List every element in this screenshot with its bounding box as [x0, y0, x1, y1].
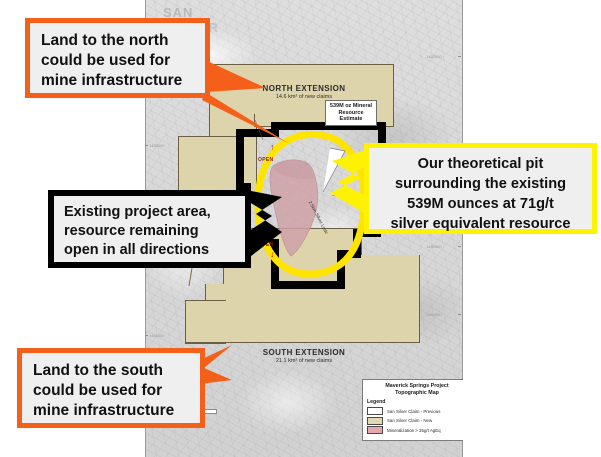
callout-pit-line1: Our theoretical pit	[373, 154, 588, 174]
legend-title-line1: Maverick Springs Project	[367, 383, 463, 390]
open-label-north: OPEN	[258, 157, 273, 163]
callout-existing-line1: Existing project area,	[64, 203, 245, 222]
slide-canvas: SAN SILVER 1462500 1462000 1461500 14610…	[0, 0, 601, 457]
callout-existing-text: Existing project area, resource remainin…	[54, 196, 245, 260]
open-arrow-east-icon: →	[330, 190, 339, 199]
callout-south-line3: mine infrastructure	[33, 401, 200, 421]
legend-item: San Silver Claim - Previous	[367, 407, 463, 415]
legend-item: Mineralization > 25g/t AgEq	[367, 426, 463, 434]
legend-swatch-claim-previous	[367, 407, 383, 415]
callout-pit-text: Our theoretical pit surrounding the exis…	[369, 148, 592, 234]
coord-tick	[458, 246, 461, 247]
open-label-south: OPEN	[258, 242, 273, 248]
claim-north-extension-notch[interactable]	[178, 136, 238, 149]
callout-north-line1: Land to the north	[41, 31, 205, 51]
claim-south-bottom[interactable]	[185, 326, 420, 343]
legend-swatch-mineralization	[367, 426, 383, 434]
legend-label-claim-new: San Silver Claim - New	[387, 418, 432, 423]
coord-tick	[145, 145, 148, 146]
legend-label-claim-previous: San Silver Claim - Previous	[387, 409, 440, 414]
callout-north-infrastructure[interactable]: Land to the north could be used for mine…	[25, 18, 210, 98]
legend-swatch-claim-new	[367, 417, 383, 425]
callout-pit-line4: silver equivalent resource	[373, 214, 588, 234]
coord-label: 1462500	[426, 54, 442, 59]
coord-tick	[458, 314, 461, 315]
callout-theoretical-pit[interactable]: Our theoretical pit surrounding the exis…	[364, 143, 597, 234]
coord-label: 1460000	[426, 312, 442, 317]
map-legend[interactable]: Maverick Springs Project Topographic Map…	[362, 379, 463, 441]
callout-south-line1: Land to the south	[33, 361, 200, 381]
coord-label: 1460500	[426, 244, 442, 249]
open-arrow-south-icon: ↓	[270, 250, 275, 259]
callout-north-line2: could be used for	[41, 51, 205, 71]
coord-tick	[145, 335, 148, 336]
callout-existing-line3: open in all directions	[64, 241, 245, 260]
callout-south-text: Land to the south could be used for mine…	[22, 353, 200, 421]
legend-title-line2: Topographic Map	[367, 390, 463, 397]
callout-south-line2: could be used for	[33, 381, 200, 401]
coord-tick	[458, 56, 461, 57]
open-arrow-north-icon: ↑	[270, 143, 275, 152]
callout-south-infrastructure[interactable]: Land to the south could be used for mine…	[17, 348, 205, 428]
callout-existing-line2: resource remaining	[64, 222, 245, 241]
resource-estimate-callout: 539M oz Mineral Resource Estimate	[325, 100, 377, 126]
legend-item: San Silver Claim - New	[367, 417, 463, 425]
callout-pit-line2: surrounding the existing	[373, 174, 588, 194]
legend-label-mineralization: Mineralization > 25g/t AgEq	[387, 428, 441, 433]
callout-pit-line3: 539M ounces at 71g/t	[373, 194, 588, 214]
coord-label: 1462000	[149, 143, 165, 148]
callout-north-line3: mine infrastructure	[41, 71, 205, 91]
callout-north-text: Land to the north could be used for mine…	[30, 23, 205, 91]
coord-label: 1461000	[149, 333, 165, 338]
callout-existing-project-area[interactable]: Existing project area, resource remainin…	[48, 190, 251, 268]
legend-heading: Legend	[367, 399, 463, 405]
